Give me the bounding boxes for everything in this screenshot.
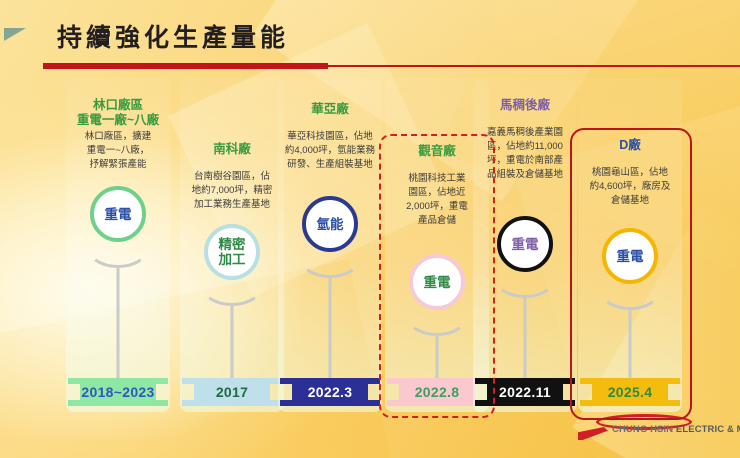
corner-triangle-decoration <box>4 28 26 41</box>
year-chip[interactable]: 2018~2023 <box>68 378 168 406</box>
year-chip-cap-segment <box>366 378 380 384</box>
year-chip-cap-segment <box>280 378 294 384</box>
year-chip-cap <box>280 378 294 406</box>
year-chip-cap-segment <box>182 400 196 406</box>
company-logo: CHUNG HSIN ELECTRIC & MACHINERY <box>578 424 740 446</box>
marker-stem <box>117 268 120 380</box>
year-chip[interactable]: 2017 <box>182 378 282 406</box>
column-description: 林口廠區，擴建 重電一~八廠， 抒解緊張產能 <box>60 130 176 172</box>
year-chip-cap <box>182 378 196 406</box>
year-chip-cap <box>154 378 168 406</box>
marker-stem <box>231 306 234 380</box>
year-chip[interactable]: 2022.3 <box>280 378 380 406</box>
column-badge[interactable]: 重電 <box>497 216 553 272</box>
year-label: 2022.11 <box>487 378 563 406</box>
logo-brand: CHUNG HSIN <box>612 424 673 435</box>
logo-text: CHUNG HSIN ELECTRIC & MACHINERY <box>612 424 740 435</box>
year-chip-cap-segment <box>182 378 196 384</box>
column-title: 華亞廠 <box>270 102 390 117</box>
year-chip-cap-segment <box>366 400 380 406</box>
year-chip-cap-segment <box>280 400 294 406</box>
year-chip-cap-segment <box>154 400 168 406</box>
logo-swoosh-icon <box>578 427 608 440</box>
year-chip-cap-segment <box>154 378 168 384</box>
column-badge[interactable]: 重電 <box>90 186 146 242</box>
title-underline <box>43 63 328 69</box>
timeline-column[interactable]: 南科廠台南樹谷園區，佔 地約7,000坪，精密 加工業務生產基地精密 加工201… <box>180 78 284 418</box>
year-chip-cap-segment <box>68 400 82 406</box>
timeline-column[interactable]: 華亞廠華亞科技園區，佔地 約4,000坪，氫能業務 研發、生產組裝基地氫能202… <box>278 78 382 418</box>
year-chip-cap <box>68 378 82 406</box>
column-title: 馬稠後廠 <box>465 98 585 113</box>
highlight-box-dashed <box>379 134 495 418</box>
logo-suffix: ELECTRIC & MACHINERY <box>676 424 740 435</box>
column-badge[interactable]: 氫能 <box>302 196 358 252</box>
year-chip-cap-segment <box>68 378 82 384</box>
column-badge[interactable]: 精密 加工 <box>204 224 260 280</box>
year-label: 2018~2023 <box>80 378 156 406</box>
marker-stem <box>524 298 527 380</box>
title-underline-thin <box>328 65 740 67</box>
column-description: 台南樹谷園區，佔 地約7,000坪，精密 加工業務生產基地 <box>174 170 290 212</box>
year-label: 2022.3 <box>292 378 368 406</box>
page-title: 持續強化生產量能 <box>57 18 289 54</box>
column-description: 華亞科技園區，佔地 約4,000坪，氫能業務 研發、生產組裝基地 <box>272 130 388 172</box>
highlight-box-solid <box>570 128 692 420</box>
marker-stem <box>329 278 332 380</box>
timeline-column[interactable]: 林口廠區 重電一廠~八廠林口廠區，擴建 重電一~八廠， 抒解緊張產能重電2018… <box>66 78 170 418</box>
year-chip-cap <box>366 378 380 406</box>
column-title: 林口廠區 重電一廠~八廠 <box>58 98 178 128</box>
year-label: 2017 <box>194 378 270 406</box>
